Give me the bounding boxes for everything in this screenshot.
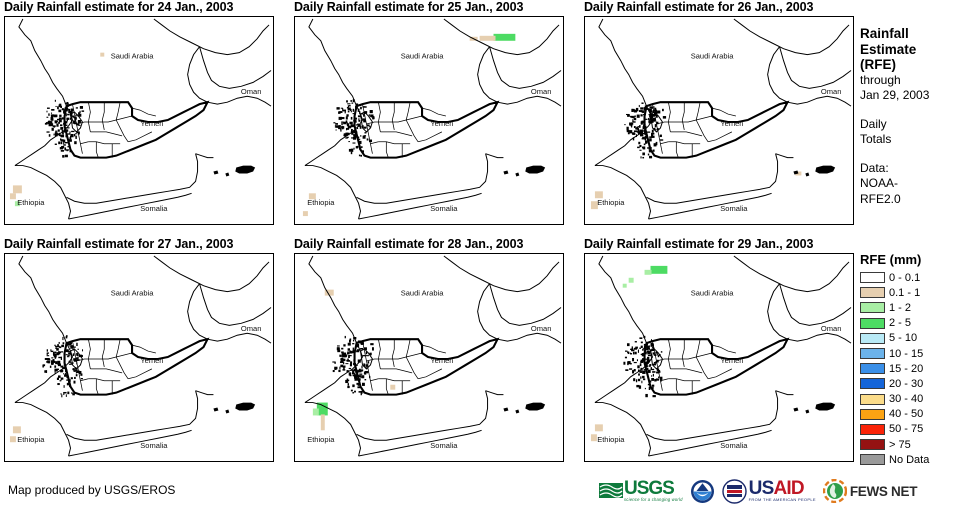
- sidebar-data-line2: NOAA-: [860, 176, 967, 192]
- legend-label: > 75: [889, 439, 911, 451]
- map-label-oman: Oman: [531, 324, 551, 333]
- map-label-ethiopia: Ethiopia: [17, 198, 45, 207]
- rainfall-map[interactable]: Saudi Arabia Oman Yemen Ethiopia Somalia: [4, 253, 274, 462]
- sidebar-subtext: through Jan 29, 2003 Daily Totals Data: …: [860, 73, 967, 208]
- usgs-logo: USGS science for a changing world: [598, 480, 683, 502]
- map-label-somalia: Somalia: [140, 204, 168, 213]
- legend-swatch: [860, 378, 885, 389]
- map-label-saudi-arabia: Saudi Arabia: [401, 289, 444, 298]
- sidebar-totals-line1: Daily: [860, 117, 967, 133]
- map-label-oman: Oman: [821, 324, 841, 333]
- map-label-saudi-arabia: Saudi Arabia: [401, 52, 444, 61]
- fews-net-logo: FEWS NET: [823, 479, 917, 503]
- legend-swatch: [860, 348, 885, 359]
- map-label-somalia: Somalia: [720, 441, 748, 450]
- panel-title: Daily Rainfall estimate for 25 Jan., 200…: [290, 0, 567, 16]
- spacer: [860, 104, 967, 117]
- map-label-oman: Oman: [531, 87, 551, 96]
- rainfall-map[interactable]: Saudi Arabia Oman Yemen Ethiopia Somalia: [584, 16, 854, 225]
- rainfall-map[interactable]: Saudi Arabia Oman Yemen Ethiopia Somalia: [584, 253, 854, 462]
- sidebar-heading-line2: Estimate: [860, 42, 967, 58]
- map-label-somalia: Somalia: [430, 441, 458, 450]
- map-panel-5: Daily Rainfall estimate for 28 Jan., 200…: [290, 237, 567, 470]
- map-credit: Map produced by USGS/EROS: [8, 483, 175, 497]
- legend-item: 0 - 0.1: [860, 270, 967, 285]
- map-label-ethiopia: Ethiopia: [307, 435, 335, 444]
- noaa-logo: [690, 479, 715, 504]
- legend-label: 15 - 20: [889, 363, 923, 375]
- rainfall-map[interactable]: Saudi Arabia Oman Yemen Ethiopia Somalia: [294, 253, 564, 462]
- map-label-saudi-arabia: Saudi Arabia: [111, 289, 154, 298]
- map-label-yemen: Yemen: [430, 356, 453, 365]
- map-label-ethiopia: Ethiopia: [597, 198, 625, 207]
- sidebar: Rainfall Estimate (RFE) through Jan 29, …: [860, 0, 967, 470]
- legend-label: 40 - 50: [889, 408, 923, 420]
- panel-title: Daily Rainfall estimate for 27 Jan., 200…: [0, 237, 277, 253]
- legend-swatch: [860, 287, 885, 298]
- legend: RFE (mm) 0 - 0.1 0.1 - 1 1 - 2 2 - 5 5 -…: [860, 252, 967, 467]
- usaid-logo: USAID FROM THE AMERICAN PEOPLE: [722, 479, 816, 504]
- legend-swatch: [860, 439, 885, 450]
- map-label-saudi-arabia: Saudi Arabia: [691, 289, 734, 298]
- usgs-mark-icon: [598, 480, 624, 502]
- map-label-yemen: Yemen: [140, 119, 163, 128]
- sidebar-data-line1: Data:: [860, 161, 967, 177]
- legend-item: 0.1 - 1: [860, 285, 967, 300]
- map-label-somalia: Somalia: [430, 204, 458, 213]
- map-label-ethiopia: Ethiopia: [597, 435, 625, 444]
- sidebar-heading: Rainfall Estimate (RFE): [860, 0, 967, 73]
- legend-label: 5 - 10: [889, 332, 917, 344]
- map-label-oman: Oman: [821, 87, 841, 96]
- legend-label: 10 - 15: [889, 348, 923, 360]
- map-panel-3: Daily Rainfall estimate for 26 Jan., 200…: [580, 0, 857, 233]
- map-label-yemen: Yemen: [720, 119, 743, 128]
- map-panel-grid: Daily Rainfall estimate for 24 Jan., 200…: [0, 0, 855, 470]
- sidebar-heading-line1: Rainfall: [860, 26, 967, 42]
- legend-label: 0 - 0.1: [889, 272, 920, 284]
- legend-item: 40 - 50: [860, 407, 967, 422]
- legend-item: 20 - 30: [860, 376, 967, 391]
- usgs-tagline: science for a changing world: [624, 497, 683, 502]
- legend-item: > 75: [860, 437, 967, 452]
- legend-swatch: [860, 272, 885, 283]
- rainfall-map[interactable]: Saudi Arabia Oman Yemen Ethiopia Somalia: [294, 16, 564, 225]
- legend-label: 2 - 5: [889, 317, 911, 329]
- map-label-yemen: Yemen: [140, 356, 163, 365]
- map-label-oman: Oman: [241, 324, 261, 333]
- sidebar-totals-line2: Totals: [860, 132, 967, 148]
- legend-item: 15 - 20: [860, 361, 967, 376]
- legend-swatch: [860, 333, 885, 344]
- legend-label: 0.1 - 1: [889, 287, 920, 299]
- usgs-wordmark: USGS: [624, 480, 683, 497]
- map-panel-4: Daily Rainfall estimate for 27 Jan., 200…: [0, 237, 277, 470]
- legend-item: 1 - 2: [860, 300, 967, 315]
- panel-title: Daily Rainfall estimate for 26 Jan., 200…: [580, 0, 857, 16]
- map-label-yemen: Yemen: [720, 356, 743, 365]
- map-label-ethiopia: Ethiopia: [17, 435, 45, 444]
- legend-swatch: [860, 424, 885, 435]
- spacer: [860, 148, 967, 161]
- noaa-seal-icon: [690, 479, 715, 504]
- usaid-tagline: FROM THE AMERICAN PEOPLE: [749, 497, 816, 502]
- map-label-oman: Oman: [241, 87, 261, 96]
- legend-swatch: [860, 394, 885, 405]
- legend-item: 2 - 5: [860, 316, 967, 331]
- rainfall-map[interactable]: Saudi Arabia Oman Yemen Ethiopia Somalia: [4, 16, 274, 225]
- legend-swatch: [860, 454, 885, 465]
- panel-title: Daily Rainfall estimate for 28 Jan., 200…: [290, 237, 567, 253]
- sidebar-data-line3: RFE2.0: [860, 192, 967, 208]
- usaid-seal-icon: [722, 479, 747, 504]
- legend-swatch: [860, 363, 885, 374]
- usaid-wordmark: USAID: [749, 480, 816, 497]
- legend-item: No Data: [860, 452, 967, 467]
- sidebar-heading-line3: (RFE): [860, 57, 967, 73]
- legend-swatch: [860, 409, 885, 420]
- fews-globe-icon: [823, 479, 847, 503]
- legend-item: 5 - 10: [860, 331, 967, 346]
- map-label-saudi-arabia: Saudi Arabia: [691, 52, 734, 61]
- map-label-somalia: Somalia: [720, 204, 748, 213]
- sidebar-through-date: Jan 29, 2003: [860, 88, 967, 104]
- legend-label: 20 - 30: [889, 378, 923, 390]
- legend-item: 30 - 40: [860, 392, 967, 407]
- map-panel-2: Daily Rainfall estimate for 25 Jan., 200…: [290, 0, 567, 233]
- logo-strip: USGS science for a changing world USAID …: [598, 474, 917, 508]
- legend-swatch: [860, 318, 885, 329]
- legend-rows: 0 - 0.1 0.1 - 1 1 - 2 2 - 5 5 - 10 10 - …: [860, 270, 967, 467]
- map-label-ethiopia: Ethiopia: [307, 198, 335, 207]
- fews-wordmark: FEWS NET: [850, 484, 917, 499]
- panel-title: Daily Rainfall estimate for 24 Jan., 200…: [0, 0, 277, 16]
- map-label-yemen: Yemen: [430, 119, 453, 128]
- sidebar-through-label: through: [860, 73, 967, 89]
- map-panel-1: Daily Rainfall estimate for 24 Jan., 200…: [0, 0, 277, 233]
- legend-label: 1 - 2: [889, 302, 911, 314]
- map-label-somalia: Somalia: [140, 441, 168, 450]
- panel-title: Daily Rainfall estimate for 29 Jan., 200…: [580, 237, 857, 253]
- map-panel-6: Daily Rainfall estimate for 29 Jan., 200…: [580, 237, 857, 470]
- legend-label: 50 - 75: [889, 423, 923, 435]
- legend-swatch: [860, 302, 885, 313]
- legend-label: No Data: [889, 454, 929, 466]
- map-label-saudi-arabia: Saudi Arabia: [111, 52, 154, 61]
- legend-item: 10 - 15: [860, 346, 967, 361]
- legend-title: RFE (mm): [860, 252, 967, 267]
- legend-item: 50 - 75: [860, 422, 967, 437]
- legend-label: 30 - 40: [889, 393, 923, 405]
